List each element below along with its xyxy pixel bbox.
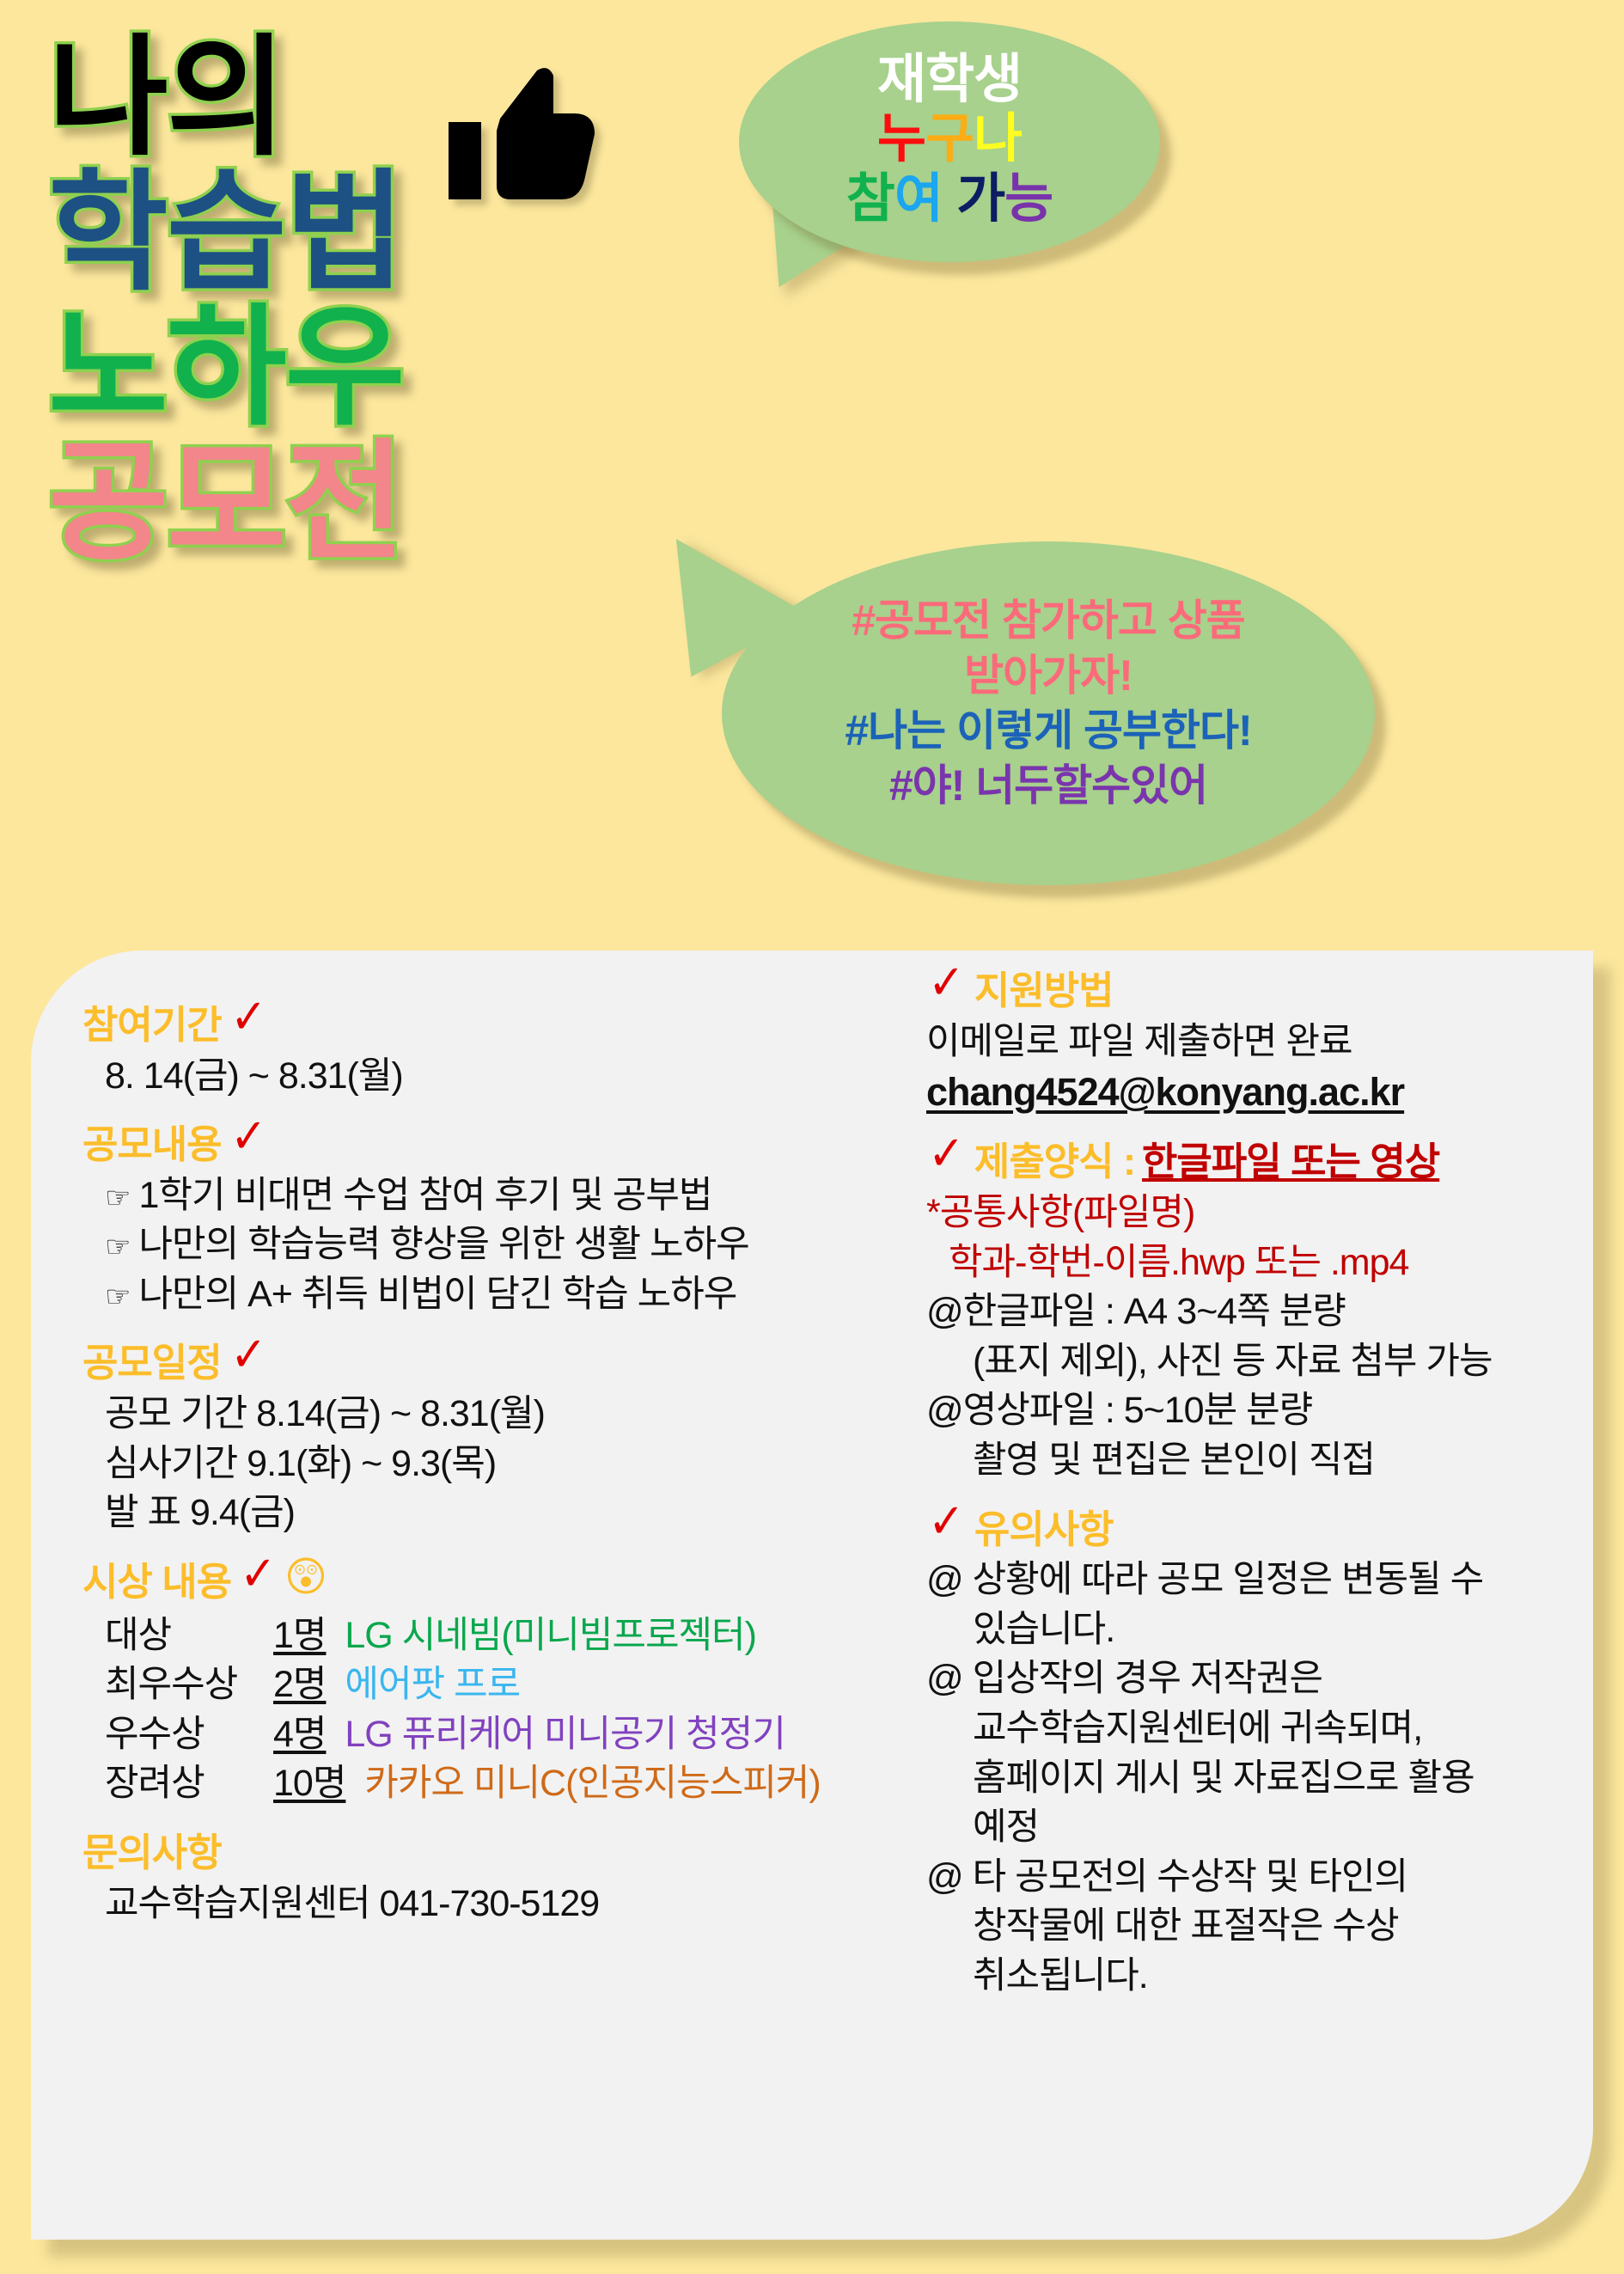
check-icon: ✓ bbox=[230, 1335, 266, 1376]
prize-count: 4명 bbox=[273, 1710, 326, 1760]
section-prizes: 시상 내용 ✓ 😲 대상1명 LG 시네빔(미니빔프로젝터) 최우수상2명 에어… bbox=[82, 1561, 890, 1809]
check-icon: ✓ bbox=[928, 963, 963, 1004]
astonished-face-emoji: 😲 bbox=[284, 1556, 327, 1601]
right-content-column: ✓ 지원방법 이메일로 파일 제출하면 완료 chang4524@konyang… bbox=[926, 969, 1605, 2024]
bubble-bottom-line-4: #야! 너두할수있어 bbox=[726, 758, 1371, 813]
prize-label: 장려상 bbox=[105, 1759, 273, 1809]
note-line: @ 타 공모전의 수상작 및 타인의 bbox=[926, 1853, 1605, 1903]
bubble-top-line-2: 누구나 bbox=[739, 109, 1160, 168]
schedule-line: 심사기간 9.1(화) ~ 9.3(목) bbox=[82, 1440, 890, 1489]
prize-count: 2명 bbox=[273, 1660, 326, 1710]
note-line: @ 입상작의 경우 저작권은 bbox=[926, 1654, 1605, 1704]
check-icon: ✓ bbox=[230, 1116, 266, 1158]
format-line: 촬영 및 편집은 본인이 직접 bbox=[926, 1436, 1605, 1486]
poster-title: 나의 학습법 노하우 공모전 bbox=[48, 34, 753, 574]
prize-label: 최우수상 bbox=[105, 1660, 273, 1710]
check-icon: ✓ bbox=[928, 1134, 963, 1175]
format-value-text: 한글파일 또는 영상 bbox=[1142, 1140, 1439, 1183]
bubble-bottom-line-2: 받아가자! bbox=[726, 648, 1371, 703]
prize-row: 장려상10명 카카오 미니C(인공지능스피커) bbox=[82, 1759, 890, 1809]
note-line: 교수학습지원센터에 귀속되며, bbox=[926, 1704, 1605, 1754]
schedule-line: 발 표 9.4(금) bbox=[82, 1488, 890, 1538]
schedule-line: 공모 기간 8.14(금) ~ 8.31(월) bbox=[82, 1390, 890, 1440]
prize-label: 우수상 bbox=[105, 1710, 273, 1760]
inquiry-line: 교수학습지원센터 041-730-5129 bbox=[82, 1880, 890, 1929]
prize-row: 대상1명 LG 시네빔(미니빔프로젝터) bbox=[82, 1611, 890, 1661]
heading-text-format: 제출양식 : bbox=[974, 1140, 1135, 1183]
section-participation-period: 참여기간 ✓ 8. 14(금) ~ 8.31(월) bbox=[82, 1004, 890, 1101]
heading-text-apply: 지원방법 bbox=[974, 969, 1114, 1012]
section-heading-format: ✓ 제출양식 : 한글파일 또는 영상 bbox=[926, 1140, 1605, 1183]
format-line: (표지 제외), 사진 등 자료 첨부 가능 bbox=[926, 1337, 1605, 1387]
poster-root: 나의 학습법 노하우 공모전 재학생 누구나 참여 가능 #공모전 참가하고 상… bbox=[0, 0, 1624, 2274]
note-line: 창작물에 대한 표절작은 수상 bbox=[926, 1902, 1605, 1952]
note-line: 취소됩니다. bbox=[926, 1952, 1605, 2002]
note-line: @ 상황에 따라 공모 일정은 변동될 수 bbox=[926, 1556, 1605, 1605]
bubble-bottom-line-3: #나는 이렇게 공부한다! bbox=[726, 703, 1371, 758]
heading-text-notes: 유의사항 bbox=[974, 1508, 1114, 1551]
prize-count: 10명 bbox=[273, 1759, 345, 1809]
check-icon: ✓ bbox=[240, 1554, 275, 1595]
prize-count: 1명 bbox=[273, 1611, 326, 1661]
prize-label: 대상 bbox=[105, 1611, 273, 1661]
bubble-top-line-3: 참여 가능 bbox=[739, 169, 1160, 229]
format-line: *공통사항(파일명) bbox=[926, 1189, 1605, 1238]
format-line: @한글파일 : A4 3~4쪽 분량 bbox=[926, 1287, 1605, 1337]
title-line-2: 학습법 bbox=[48, 169, 753, 297]
apply-email-link[interactable]: chang4524@konyang.ac.kr bbox=[926, 1067, 1605, 1118]
title-line-1: 나의 bbox=[48, 34, 753, 162]
note-line: 홈페이지 게시 및 자료집으로 활용 bbox=[926, 1754, 1605, 1804]
heading-text-contents: 공모내용 bbox=[82, 1123, 222, 1166]
contents-item-text: 나만의 A+ 취득 비법이 담긴 학습 노하우 bbox=[138, 1274, 736, 1315]
note-line: 있습니다. bbox=[926, 1605, 1605, 1655]
bubble-bottom-line-1: #공모전 참가하고 상품 bbox=[726, 593, 1371, 648]
bubble-top-line-1: 재학생 bbox=[739, 50, 1160, 109]
section-contest-contents: 공모내용 ✓ ☞1학기 비대면 수업 참여 후기 및 공부법 ☞나만의 학습능력… bbox=[82, 1123, 890, 1319]
format-line: 학과-학번-이름.hwp 또는 .mp4 bbox=[926, 1238, 1605, 1288]
speech-bubble-bottom-text: #공모전 참가하고 상품 받아가자! #나는 이렇게 공부한다! #야! 너두할… bbox=[726, 593, 1371, 813]
contents-item: ☞나만의 A+ 취득 비법이 담긴 학습 노하우 bbox=[82, 1270, 890, 1320]
heading-text-prizes: 시상 내용 bbox=[82, 1561, 231, 1604]
section-notes: ✓ 유의사항 @ 상황에 따라 공모 일정은 변동될 수 있습니다. @ 입상작… bbox=[926, 1508, 1605, 2002]
thumbs-up-icon bbox=[447, 52, 627, 223]
contents-item: ☞1학기 비대면 수업 참여 후기 및 공부법 bbox=[82, 1171, 890, 1221]
section-inquiry: 문의사항 교수학습지원센터 041-730-5129 bbox=[82, 1831, 890, 1929]
section-how-to-apply: ✓ 지원방법 이메일로 파일 제출하면 완료 chang4524@konyang… bbox=[926, 969, 1605, 1118]
heading-text-inquiry: 문의사항 bbox=[82, 1831, 222, 1874]
section-submission-format: ✓ 제출양식 : 한글파일 또는 영상 *공통사항(파일명) 학과-학번-이름.… bbox=[926, 1140, 1605, 1485]
title-line-3: 노하우 bbox=[48, 304, 753, 432]
note-line: 예정 bbox=[926, 1803, 1605, 1853]
contents-item-text: 1학기 비대면 수업 참여 후기 및 공부법 bbox=[138, 1175, 711, 1216]
section-schedule: 공모일정 ✓ 공모 기간 8.14(금) ~ 8.31(월) 심사기간 9.1(… bbox=[82, 1342, 890, 1537]
apply-line-1: 이메일로 파일 제출하면 완료 bbox=[926, 1018, 1605, 1067]
prize-item: LG 시네빔(미니빔프로젝터) bbox=[345, 1611, 756, 1661]
section-heading-prizes: 시상 내용 ✓ 😲 bbox=[82, 1561, 890, 1606]
speech-bubble-top-text: 재학생 누구나 참여 가능 bbox=[739, 50, 1160, 229]
heading-text-schedule: 공모일정 bbox=[82, 1342, 222, 1385]
prize-item: LG 퓨리케어 미니공기 청정기 bbox=[345, 1710, 785, 1760]
pointing-hand-icon: ☞ bbox=[105, 1231, 130, 1263]
section-heading-contents: 공모내용 ✓ bbox=[82, 1123, 890, 1166]
section-heading-notes: ✓ 유의사항 bbox=[926, 1508, 1605, 1551]
prize-item: 카카오 미니C(인공지능스피커) bbox=[364, 1759, 820, 1809]
section-heading-inquiry: 문의사항 bbox=[82, 1831, 890, 1874]
contents-item: ☞나만의 학습능력 향상을 위한 생활 노하우 bbox=[82, 1220, 890, 1270]
prize-item: 에어팟 프로 bbox=[345, 1660, 520, 1710]
left-content-column: 참여기간 ✓ 8. 14(금) ~ 8.31(월) 공모내용 ✓ ☞1학기 비대… bbox=[82, 1004, 890, 1951]
check-icon: ✓ bbox=[230, 997, 266, 1038]
format-line: @영상파일 : 5~10분 분량 bbox=[926, 1386, 1605, 1436]
contents-item-text: 나만의 학습능력 향상을 위한 생활 노하우 bbox=[138, 1224, 748, 1265]
pointing-hand-icon: ☞ bbox=[105, 1281, 130, 1313]
title-line-4: 공모전 bbox=[48, 439, 753, 567]
heading-text-period: 참여기간 bbox=[82, 1004, 222, 1047]
section-heading-schedule: 공모일정 ✓ bbox=[82, 1342, 890, 1385]
section-heading-apply: ✓ 지원방법 bbox=[926, 969, 1605, 1012]
pointing-hand-icon: ☞ bbox=[105, 1182, 130, 1214]
section-heading-period: 참여기간 ✓ bbox=[82, 1004, 890, 1047]
check-icon: ✓ bbox=[928, 1501, 963, 1543]
prize-row: 우수상4명 LG 퓨리케어 미니공기 청정기 bbox=[82, 1710, 890, 1760]
prize-row: 최우수상2명 에어팟 프로 bbox=[82, 1660, 890, 1710]
period-line-1: 8. 14(금) ~ 8.31(월) bbox=[82, 1052, 890, 1102]
